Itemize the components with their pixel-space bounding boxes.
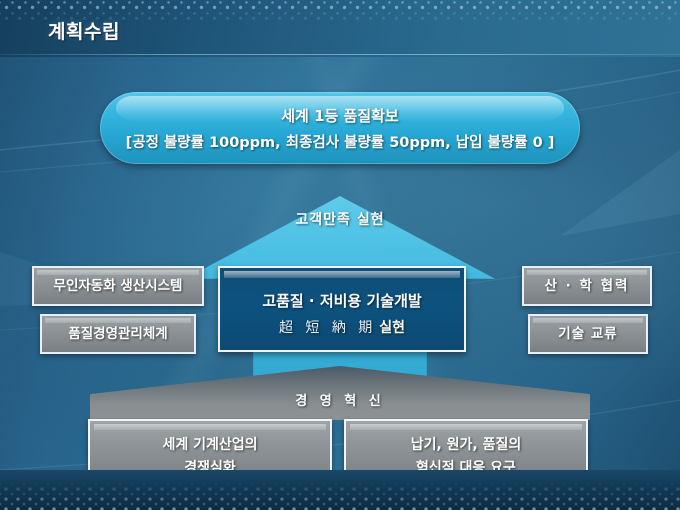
right-box-tech-exchange: 기술 교류 [528, 314, 648, 354]
right-box-tech-exchange-topstrip [533, 318, 643, 323]
right-box-industry-academia-label: 산 · 학 협력 [545, 277, 630, 295]
left-box-quality-management-topstrip [45, 318, 191, 323]
core-strategy-box-topstrip [224, 271, 460, 278]
left-box-quality-management-label: 품질경영관리체계 [68, 325, 167, 343]
right-box-industry-academia-topstrip [527, 270, 647, 275]
goal-banner-headline: 세계 1등 품질확보 [281, 105, 398, 126]
header-divider [0, 54, 680, 55]
bottom-box-global-competition-topstrip [94, 424, 326, 430]
left-box-automation-topstrip [37, 270, 199, 275]
left-box-automation: 무인자동화 생산시스템 [32, 266, 204, 306]
right-box-industry-academia: 산 · 학 협력 [522, 266, 652, 306]
right-box-tech-exchange-label: 기술 교류 [558, 325, 617, 343]
core-strategy-line1: 고품질 · 저비용 기술개발 [262, 290, 421, 311]
bottom-box-innovation-demand-line1: 납기, 원가, 품질의 [411, 434, 522, 454]
slide-footer [0, 470, 680, 510]
bottom-box-innovation-demand-topstrip [350, 424, 582, 430]
core-strategy-box: 고품질 · 저비용 기술개발 超 短 納 期실현 [218, 266, 466, 352]
core-strategy-hanja: 超 短 納 期 [279, 320, 376, 336]
up-arrow-label: 고객만족 실현 [185, 209, 495, 229]
goal-banner: 세계 1등 품질확보 [공정 불량률 100ppm, 최종검사 불량률 50pp… [100, 92, 580, 164]
bottom-box-global-competition-line1: 세계 기계산업의 [162, 434, 257, 454]
presentation-slide: 계획수립 세계 1등 품질확보 [공정 불량률 100ppm, 최종검사 불량률… [0, 0, 680, 510]
left-box-automation-label: 무인자동화 생산시스템 [54, 277, 183, 295]
footer-dot-pattern [0, 480, 680, 510]
goal-banner-metrics: [공정 불량률 100ppm, 최종검사 불량률 50ppm, 납입 불량률 0… [126, 131, 555, 152]
base-peak-label: 경 영 혁 신 [90, 390, 590, 409]
core-strategy-line2: 超 短 納 期실현 [279, 317, 405, 337]
left-box-quality-management: 품질경영관리체계 [40, 314, 196, 354]
core-strategy-korean: 실현 [379, 320, 405, 336]
page-title: 계획수립 [48, 17, 120, 44]
